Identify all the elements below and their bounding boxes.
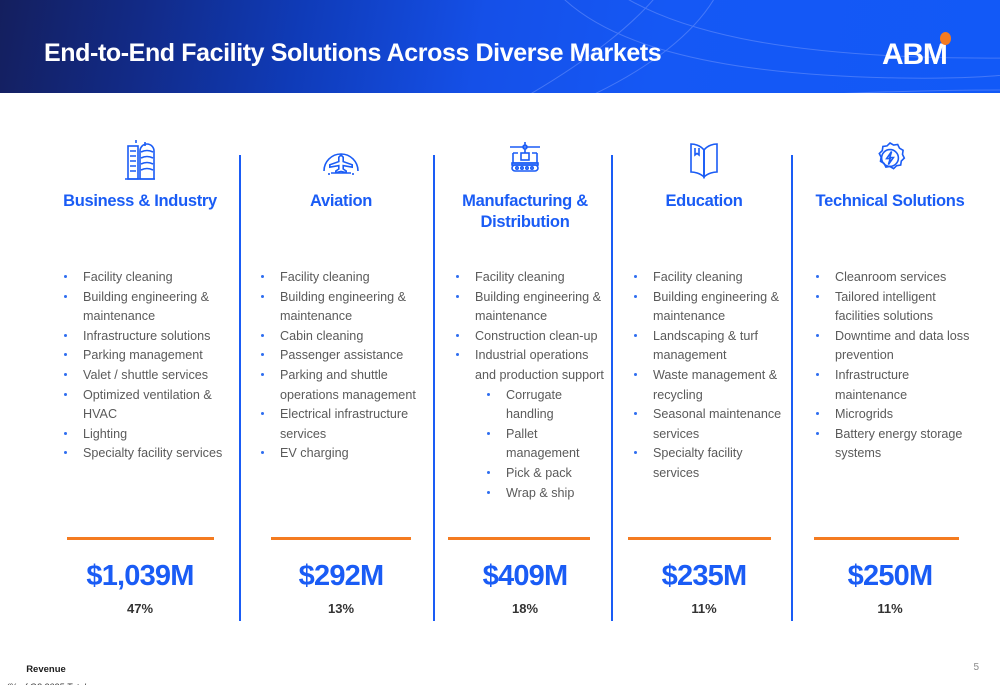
revenue-legend: Revenue (% of Q3 2025 Total Company Reve… [0,663,92,685]
market-column-technical-solutions: Technical Solutions Cleanroom services T… [800,93,980,685]
market-column-education: Education Facility cleaning Building eng… [618,93,790,685]
bullet-dot-icon [261,451,264,454]
market-column-aviation: Aviation Facility cleaning Building engi… [245,93,437,685]
list-item: Facility cleaning [245,268,437,288]
list-item: Parking and shuttle operations managemen… [245,366,437,405]
column-title: Aviation [245,191,437,212]
column-accent-rule [628,537,771,540]
revenue-legend-title: Revenue [0,663,92,677]
bullet-dot-icon [64,393,67,396]
bullet-dot-icon [487,393,490,396]
list-item: Seasonal maintenance services [618,405,790,444]
list-item-label: Facility cleaning [83,270,173,284]
column-bullet-list: Facility cleaning Building engineering &… [618,268,790,484]
revenue-percent: 47% [48,601,232,616]
revenue-percent: 13% [245,601,437,616]
market-column-business-industry: Business & Industry Facility cleaning Bu… [48,93,232,685]
office-building-icon [48,137,232,183]
bullet-dot-icon [64,432,67,435]
column-divider [611,155,613,621]
list-item-label: Electrical infrastructure services [280,407,408,441]
column-accent-rule [67,537,214,540]
open-book-icon [618,137,790,183]
list-item-label: Building engineering & maintenance [280,290,406,324]
list-item: Building engineering & maintenance [440,288,610,327]
sub-list-item: Wrap & ship [475,484,610,504]
list-item: Infrastructure solutions [48,327,232,347]
bullet-dot-icon [634,451,637,454]
list-item: Specialty facility services [618,444,790,483]
bullet-dot-icon [634,373,637,376]
bullet-dot-icon [634,412,637,415]
list-item: Construction clean-up [440,327,610,347]
column-title: Business & Industry [48,191,232,212]
airplane-hangar-icon [245,137,437,183]
list-item-label: Facility cleaning [280,270,370,284]
abm-logo: ABM [882,32,958,72]
bullet-dot-icon [634,334,637,337]
list-item: Passenger assistance [245,346,437,366]
revenue-legend-subtitle: (% of Q3 2025 Total Company Revenue) [0,681,92,685]
list-item-label: Microgrids [835,407,893,421]
list-item: Building engineering & maintenance [245,288,437,327]
list-item-label: Specialty facility services [83,446,222,460]
column-bullet-list: Facility cleaning Building engineering &… [48,268,232,464]
list-item-label: Facility cleaning [475,270,565,284]
bullet-dot-icon [634,295,637,298]
list-item-label: Landscaping & turf management [653,329,758,363]
list-item: Cleanroom services [800,268,980,288]
page-title: End-to-End Facility Solutions Across Div… [44,39,661,68]
bullet-dot-icon [816,432,819,435]
slide-header: End-to-End Facility Solutions Across Div… [0,0,1000,93]
list-item: Landscaping & turf management [618,327,790,366]
bullet-dot-icon [261,353,264,356]
revenue-amount: $292M [245,560,437,593]
bullet-dot-icon [261,373,264,376]
bullet-dot-icon [816,412,819,415]
column-title: Education [618,191,790,212]
list-item-label: Facility cleaning [653,270,743,284]
sub-list-item-label: Wrap & ship [506,486,574,500]
revenue-percent: 11% [800,601,980,616]
bullet-dot-icon [487,471,490,474]
list-item-label: Building engineering & maintenance [653,290,779,324]
list-item: Optimized ventilation & HVAC [48,386,232,425]
bullet-dot-icon [456,275,459,278]
list-item-label: Lighting [83,427,127,441]
bullet-dot-icon [64,275,67,278]
bullet-dot-icon [64,334,67,337]
revenue-amount: $409M [440,560,610,593]
list-item-label: Seasonal maintenance services [653,407,781,441]
list-item: Tailored intelligent facilities solution… [800,288,980,327]
list-item: Infrastructure maintenance [800,366,980,405]
list-item-label: Tailored intelligent facilities solution… [835,290,936,324]
list-item: Building engineering & maintenance [618,288,790,327]
bullet-dot-icon [456,334,459,337]
list-item-label: Battery energy storage systems [835,427,962,461]
market-column-manufacturing-distribution: Manufacturing & Distribution Facility cl… [440,93,610,685]
list-item: Facility cleaning [618,268,790,288]
list-item-label: Waste management & recycling [653,368,777,402]
abm-logo-text: ABM [882,40,947,70]
gear-bolt-icon [800,137,980,183]
list-item-label: Cleanroom services [835,270,946,284]
slide-root: End-to-End Facility Solutions Across Div… [0,0,1000,685]
bullet-dot-icon [456,295,459,298]
sub-list-item-label: Corrugate handling [506,388,562,422]
list-item-label: Parking management [83,348,203,362]
bullet-dot-icon [487,432,490,435]
bullet-dot-icon [816,275,819,278]
abm-logo-dot-icon [940,32,951,45]
bullet-dot-icon [261,295,264,298]
list-item-label: Cabin cleaning [280,329,363,343]
list-item: Valet / shuttle services [48,366,232,386]
bullet-dot-icon [456,353,459,356]
column-accent-rule [814,537,959,540]
bullet-dot-icon [487,491,490,494]
revenue-amount: $235M [618,560,790,593]
list-item: Lighting [48,425,232,445]
column-bullet-list: Facility cleaning Building engineering &… [440,268,610,503]
bullet-dot-icon [64,295,67,298]
page-number: 5 [973,662,979,673]
list-item: Electrical infrastructure services [245,405,437,444]
column-accent-rule [271,537,411,540]
bullet-dot-icon [261,275,264,278]
bullet-dot-icon [261,412,264,415]
list-item: Waste management & recycling [618,366,790,405]
revenue-percent: 18% [440,601,610,616]
conveyor-robot-icon [440,137,610,183]
bullet-dot-icon [634,275,637,278]
revenue-amount: $1,039M [48,560,232,593]
revenue-percent: 11% [618,601,790,616]
column-divider [239,155,241,621]
sub-list-item: Corrugate handling [475,386,610,425]
column-bullet-list: Cleanroom services Tailored intelligent … [800,268,980,464]
market-columns: Business & Industry Facility cleaning Bu… [0,93,1000,685]
column-sub-bullet-list: Corrugate handling Pallet management Pic… [475,386,610,504]
list-item: Industrial operations and production sup… [440,346,610,503]
column-accent-rule [448,537,590,540]
list-item-label: Construction clean-up [475,329,598,343]
column-bullet-list: Facility cleaning Building engineering &… [245,268,437,464]
column-divider [791,155,793,621]
list-item-label: Valet / shuttle services [83,368,208,382]
list-item: Facility cleaning [48,268,232,288]
sub-list-item: Pick & pack [475,464,610,484]
revenue-amount: $250M [800,560,980,593]
column-title: Technical Solutions [800,191,980,212]
bullet-dot-icon [261,334,264,337]
sub-list-item-label: Pick & pack [506,466,572,480]
list-item: Specialty facility services [48,444,232,464]
list-item: EV charging [245,444,437,464]
list-item-label: Infrastructure maintenance [835,368,909,402]
list-item: Battery energy storage systems [800,425,980,464]
bullet-dot-icon [64,353,67,356]
list-item: Building engineering & maintenance [48,288,232,327]
list-item: Microgrids [800,405,980,425]
list-item-label: Building engineering & maintenance [475,290,601,324]
bullet-dot-icon [64,373,67,376]
bullet-dot-icon [816,334,819,337]
list-item-label: Building engineering & maintenance [83,290,209,324]
list-item-label: Passenger assistance [280,348,403,362]
list-item: Facility cleaning [440,268,610,288]
sub-list-item-label: Pallet management [506,427,580,461]
list-item-label: Parking and shuttle operations managemen… [280,368,416,402]
list-item-label: Industrial operations and production sup… [475,348,604,382]
list-item: Cabin cleaning [245,327,437,347]
list-item-label: Specialty facility services [653,446,743,480]
sub-list-item: Pallet management [475,425,610,464]
bullet-dot-icon [64,451,67,454]
list-item: Downtime and data loss prevention [800,327,980,366]
list-item-label: Optimized ventilation & HVAC [83,388,212,422]
list-item: Parking management [48,346,232,366]
column-title: Manufacturing & Distribution [440,191,610,233]
list-item-label: EV charging [280,446,349,460]
bullet-dot-icon [816,295,819,298]
list-item-label: Infrastructure solutions [83,329,210,343]
list-item-label: Downtime and data loss prevention [835,329,969,363]
bullet-dot-icon [816,373,819,376]
